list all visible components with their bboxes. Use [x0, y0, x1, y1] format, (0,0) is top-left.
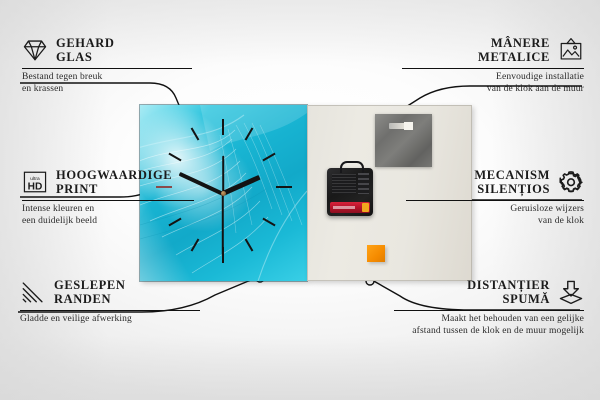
callout-subtitle: Bestand tegen breuk en krassen — [22, 69, 192, 95]
callout-subtitle: Intense kleuren en een duidelijk beeld — [22, 201, 194, 227]
movement-hanger-hook — [340, 161, 364, 173]
callout-header: MÂNERE METALICE — [402, 36, 584, 64]
callout-header: GEHARD GLAS — [22, 36, 192, 64]
movement-knobs — [358, 173, 369, 194]
callout-title: GEHARD GLAS — [56, 36, 114, 64]
callout-distantier-spuma: DISTANȚIER SPUMĂ Maakt het behouden van … — [394, 278, 584, 337]
ultra-hd-main-text: HD — [28, 181, 43, 192]
foam-spacer-arrow-icon — [558, 279, 584, 305]
ultra-hd-icon: ultra HD — [22, 169, 48, 195]
callout-title: MECANISM SILENȚIOS — [474, 168, 550, 196]
metal-wall-hanger — [375, 114, 432, 167]
callout-subtitle: Maakt het behouden van een gelijke afsta… — [394, 311, 584, 337]
clock-tick-12 — [222, 119, 224, 135]
callout-header: GESLEPEN RANDEN — [20, 278, 200, 306]
callout-title: HOOGWAARDIGE PRINT — [56, 168, 172, 196]
hanger-keyhole-slot — [389, 123, 413, 129]
clock-second-hand-tail — [222, 156, 224, 194]
callout-title: MÂNERE METALICE — [478, 36, 550, 64]
infographic-canvas: GEHARD GLAS Bestand tegen breuk en krass… — [0, 0, 600, 400]
wall-mount-frame-icon — [558, 37, 584, 63]
diamond-icon — [22, 37, 48, 63]
callout-title: GESLEPEN RANDEN — [54, 278, 126, 306]
callout-manere-metalice: MÂNERE METALICE Eenvoudige installatie v… — [402, 36, 584, 95]
callout-subtitle: Eenvoudige installatie van de klok aan d… — [402, 69, 584, 95]
beveled-edge-icon — [20, 279, 46, 305]
clock-second-hand — [222, 194, 224, 256]
callout-gehard-glas: GEHARD GLAS Bestand tegen breuk en krass… — [22, 36, 192, 95]
gear-icon — [558, 169, 584, 195]
clock-center-pin — [221, 191, 226, 196]
callout-subtitle: Geruisloze wijzers van de klok — [406, 201, 584, 227]
callout-header: DISTANȚIER SPUMĂ — [394, 278, 584, 306]
foam-spacer — [367, 245, 385, 262]
callout-title: DISTANȚIER SPUMĂ — [467, 278, 550, 306]
callout-hoogwaardige-print: ultra HD HOOGWAARDIGE PRINT Intense kleu… — [22, 168, 194, 227]
movement-grill — [332, 174, 356, 194]
callout-mecanism-silentios: MECANISM SILENȚIOS Geruisloze wijzers va… — [406, 168, 584, 227]
callout-geslepen-randen: GESLEPEN RANDEN Gladde en veilige afwerk… — [20, 278, 200, 326]
callout-subtitle: Gladde en veilige afwerking — [20, 311, 200, 326]
quartz-movement-box — [327, 168, 373, 216]
aa-battery — [330, 202, 370, 213]
callout-header: MECANISM SILENȚIOS — [406, 168, 584, 196]
clock-tick-3 — [276, 186, 292, 188]
callout-header: ultra HD HOOGWAARDIGE PRINT — [22, 168, 194, 196]
